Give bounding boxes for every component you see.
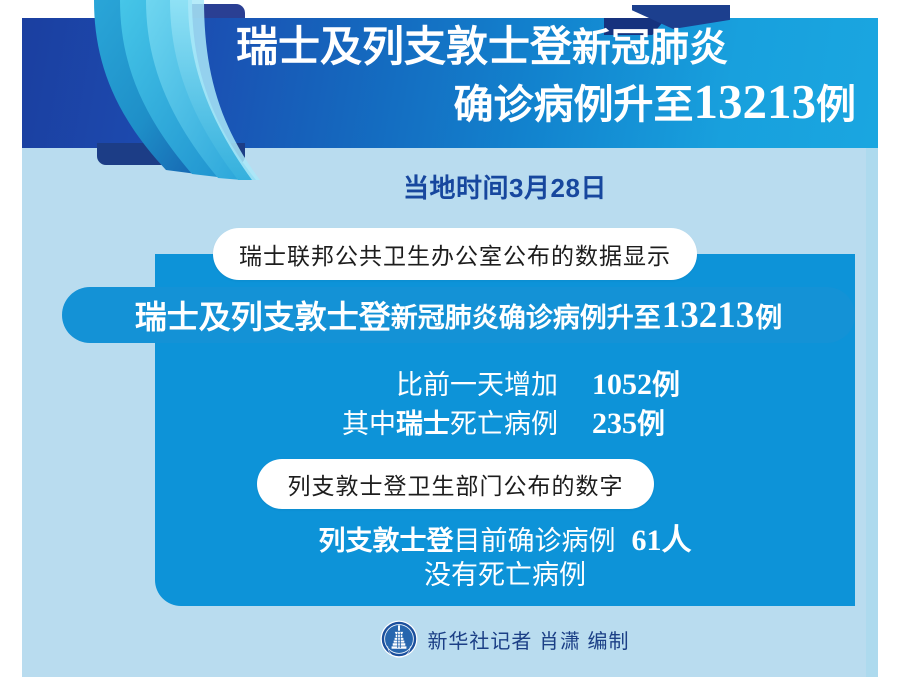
header-title-line1-main: 瑞士及列支敦士登 [236,23,572,70]
stat-row-deaths: 其中瑞士死亡病例 235例 [155,402,855,436]
header-title-line1: 瑞士及列支敦士登新冠肺炎 [230,26,860,69]
header-title-block: 瑞士及列支敦士登新冠肺炎 确诊病例升至13213例 [230,26,860,127]
liechtenstein-no-deaths: 没有死亡病例 [155,560,855,592]
liechtenstein-name: 列支敦士登 [319,526,454,556]
stat-label-deaths-prefix: 其中 [342,409,396,439]
liechtenstein-value: 61 [616,524,662,557]
source-pill-liechtenstein: 列支敦士登卫生部门公布的数字 [257,459,654,509]
headline-number: 13213 [661,294,756,337]
headline-part-a: 瑞士及列支敦士登 [135,292,391,338]
liechtenstein-desc: 目前确诊病例 [454,526,616,556]
header-title-line2-unit: 例 [816,83,856,127]
stat-unit-deaths: 例 [637,408,665,439]
headline-unit: 例 [755,296,782,335]
source-pill-liechtenstein-label: 列支敦士登卫生部门公布的数字 [288,467,624,501]
date-line: 当地时间3月28日 [155,168,855,205]
infographic-poster: 瑞士及列支敦士登新冠肺炎 确诊病例升至13213例 当地时间3月28日 瑞士联邦… [0,0,900,677]
stat-row-new-cases: 比前一天增加 1052例 [155,363,855,397]
stat-value-new-cases: 1052例 [558,363,742,403]
source-pill-swiss-label: 瑞士联邦公共卫生办公室公布的数据显示 [239,237,671,271]
stat-unit-new-cases: 例 [652,369,680,400]
source-pill-swiss: 瑞士联邦公共卫生办公室公布的数据显示 [213,228,697,280]
stat-number-deaths: 235 [592,407,637,440]
liechtenstein-unit: 人 [662,524,692,557]
headline-part-b: 新冠肺炎确诊病例升至 [391,296,661,335]
stat-label-new-cases: 比前一天增加 [268,363,558,402]
stat-number-new-cases: 1052 [592,368,652,401]
header-title-line2-number: 13213 [694,74,817,129]
footer-credit: 新华社记者 肖潇 编制 [155,620,855,658]
stat-value-deaths: 235例 [558,402,742,442]
header-title-line2: 确诊病例升至13213例 [230,77,860,127]
liechtenstein-cases-line: 列支敦士登目前确诊病例61人 [155,523,855,558]
page-background-edge [866,148,878,677]
stat-label-deaths-country: 瑞士 [396,409,450,439]
header-title-line1-sub: 新冠肺炎 [572,27,728,70]
statistics-block: 比前一天增加 1052例 其中瑞士死亡病例 235例 [155,363,855,441]
credit-text: 新华社记者 肖潇 编制 [427,625,629,654]
ribbon-fold-bottom [97,143,245,165]
liechtenstein-block: 列支敦士登目前确诊病例61人 没有死亡病例 [155,523,855,592]
stat-label-deaths-suffix: 死亡病例 [450,409,558,439]
stat-label-deaths: 其中瑞士死亡病例 [268,402,558,441]
headline-banner: 瑞士及列支敦士登新冠肺炎确诊病例升至13213例 [62,287,855,343]
header-title-line2-main: 确诊病例升至 [454,83,694,127]
xinhua-logo-icon [380,620,418,658]
